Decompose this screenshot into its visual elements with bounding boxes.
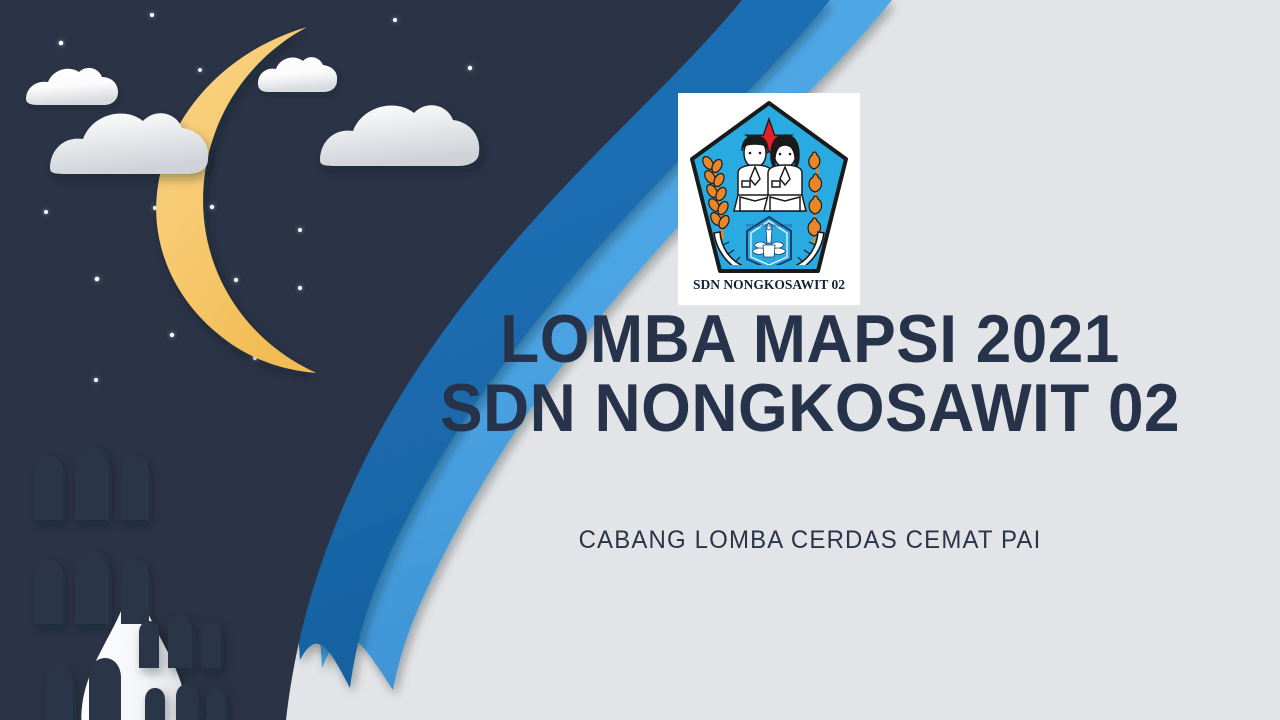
star-icon <box>59 41 64 46</box>
star-icon <box>210 205 214 209</box>
school-logo-emblem: TUT WURI HANDAYANI <box>678 93 860 305</box>
school-logo: TUT WURI HANDAYANI <box>678 93 860 305</box>
star-icon <box>298 228 302 232</box>
tut-wuri-handayani-emblem: TUT WURI HANDAYANI <box>746 217 793 269</box>
page-title-line-2: SDN NONGKOSAWIT 02 <box>368 374 1252 443</box>
star-icon <box>170 333 174 337</box>
star-icon <box>150 13 154 17</box>
title-group: LOMBA MAPSI 2021 SDN NONGKOSAWIT 02 CABA… <box>340 305 1280 555</box>
slide-canvas: TUT WURI HANDAYANI <box>0 0 1280 720</box>
star-icon <box>95 277 100 282</box>
logo-caption-text: SDN NONGKOSAWIT 02 <box>693 277 845 292</box>
star-icon <box>298 286 302 290</box>
star-icon <box>468 66 472 70</box>
star-icon <box>198 68 202 72</box>
star-icon <box>94 378 98 382</box>
emblem-motto: TUT WURI HANDAYANI <box>746 223 793 228</box>
star-icon <box>234 278 238 282</box>
star-icon <box>393 18 397 22</box>
page-subtitle: CABANG LOMBA CERDAS CEMAT PAI <box>359 526 1261 555</box>
star-icon <box>44 210 48 214</box>
page-title-line-1: LOMBA MAPSI 2021 <box>368 305 1252 374</box>
